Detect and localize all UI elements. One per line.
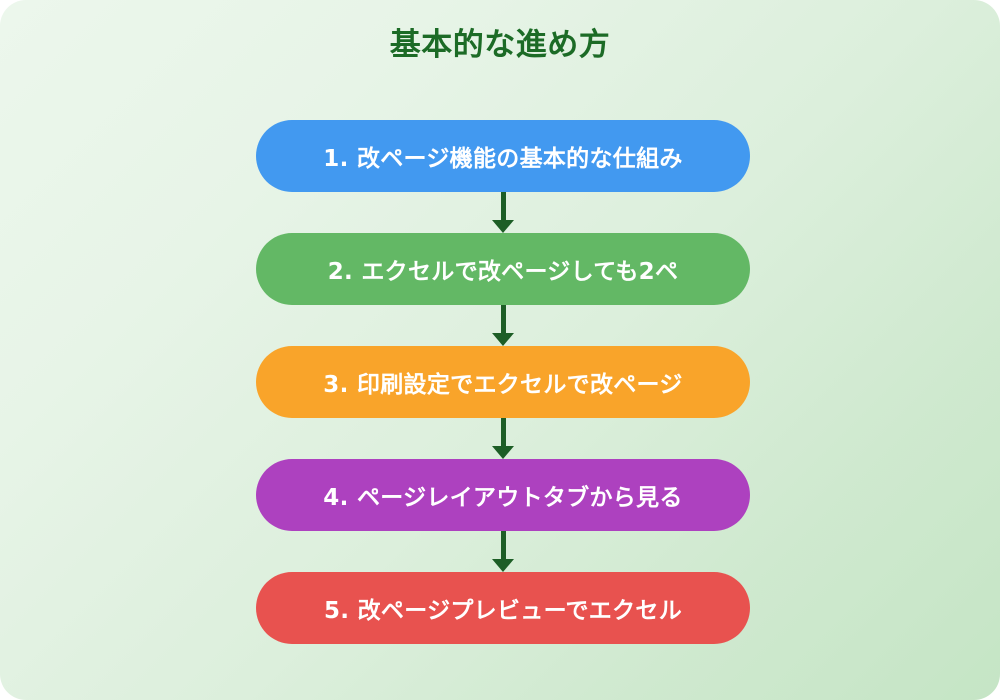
connector-arrow-2 <box>256 305 750 346</box>
node-box-4[interactable]: 4. ページレイアウトタブから見る <box>256 459 750 531</box>
node-box-2[interactable]: 2. エクセルで改ページしても2ペ <box>256 233 750 305</box>
arrow-stem-icon <box>501 531 506 561</box>
node-label-3: 3. 印刷設定でエクセルで改ページ <box>309 365 696 399</box>
node-box-3[interactable]: 3. 印刷設定でエクセルで改ページ <box>256 346 750 418</box>
arrow-head-icon <box>492 333 514 346</box>
arrow-stem-icon <box>501 192 506 222</box>
flowchart-node-4[interactable]: 4. ページレイアウトタブから見る <box>256 459 750 531</box>
node-label-2: 2. エクセルで改ページしても2ペ <box>314 252 693 286</box>
flowchart-node-5[interactable]: 5. 改ページプレビューでエクセル <box>256 572 750 644</box>
flowchart-node-2[interactable]: 2. エクセルで改ページしても2ペ <box>256 233 750 305</box>
page-title: 基本的な進め方 <box>0 27 1000 64</box>
connector-arrow-4 <box>256 531 750 572</box>
connector-arrow-3 <box>256 418 750 459</box>
flowchart-canvas: 基本的な進め方 1. 改ページ機能の基本的な仕組み 2. エクセルで改ページして… <box>0 0 1000 700</box>
arrow-head-icon <box>492 559 514 572</box>
node-label-5: 5. 改ページプレビューでエクセル <box>310 591 696 625</box>
arrow-head-icon <box>492 446 514 459</box>
flowchart-node-3[interactable]: 3. 印刷設定でエクセルで改ページ <box>256 346 750 418</box>
flowchart-node-list: 1. 改ページ機能の基本的な仕組み 2. エクセルで改ページしても2ペ 3. 印… <box>256 120 750 644</box>
arrow-stem-icon <box>501 418 506 448</box>
node-box-5[interactable]: 5. 改ページプレビューでエクセル <box>256 572 750 644</box>
arrow-stem-icon <box>501 305 506 335</box>
connector-arrow-1 <box>256 192 750 233</box>
flowchart-node-1[interactable]: 1. 改ページ機能の基本的な仕組み <box>256 120 750 192</box>
node-label-1: 1. 改ページ機能の基本的な仕組み <box>309 139 696 173</box>
node-box-1[interactable]: 1. 改ページ機能の基本的な仕組み <box>256 120 750 192</box>
arrow-head-icon <box>492 220 514 233</box>
node-label-4: 4. ページレイアウトタブから見る <box>309 478 696 512</box>
